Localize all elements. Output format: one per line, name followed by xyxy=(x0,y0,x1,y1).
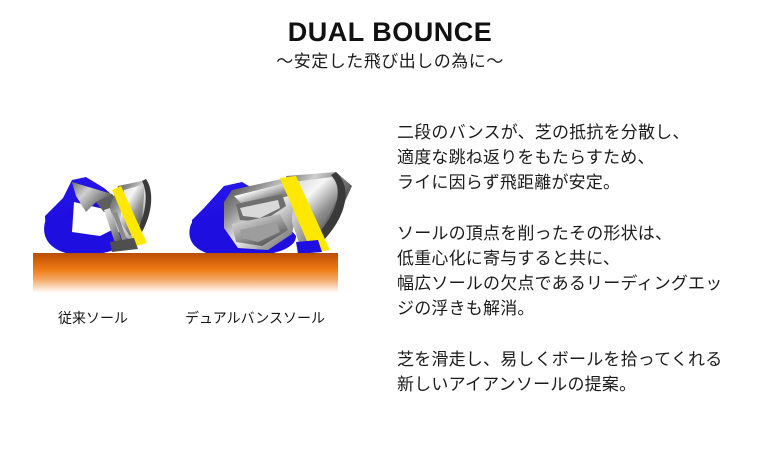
caption-dual-bounce-sole: デュアルバンスソール xyxy=(160,310,350,327)
dual-bounce-sole-illustration xyxy=(189,172,352,257)
paragraph-2-line-2: 低重心化に寄与すると共に、 xyxy=(397,246,775,271)
page-subtitle: 〜安定した飛び出しの為に〜 xyxy=(0,53,780,72)
club-sole-diagram-svg xyxy=(0,150,390,310)
paragraph-2: ソールの頂点を削ったその形状は、 低重心化に寄与すると共に、 幅広ソールの欠点で… xyxy=(397,221,775,321)
dualbounce-toe-tab xyxy=(296,240,322,254)
figure-captions: 従来ソール デュアルバンスソール xyxy=(0,310,390,334)
paragraph-1: 二段のバンスが、芝の抵抗を分散し、 適度な跳ね返りをもたらすため、 ライに因らず… xyxy=(397,120,775,195)
sole-comparison-figure: 従来ソール デュアルバンスソール xyxy=(0,150,390,350)
description-copy: 二段のバンスが、芝の抵抗を分散し、 適度な跳ね返りをもたらすため、 ライに因らず… xyxy=(397,120,775,397)
turf-ground-band xyxy=(33,253,338,293)
page-title: DUAL BOUNCE xyxy=(0,18,780,46)
paragraph-1-line-3: ライに因らず飛距離が安定。 xyxy=(397,170,775,195)
paragraph-3-line-1: 芝を滑走し、易しくボールを拾ってくれる xyxy=(397,347,775,372)
conventional-sole-illustration xyxy=(44,177,151,255)
paragraph-2-line-4: ジの浮きも解消。 xyxy=(397,296,775,321)
caption-conventional-sole: 従来ソール xyxy=(38,310,148,327)
paragraph-2-line-1: ソールの頂点を削ったその形状は、 xyxy=(397,221,775,246)
paragraph-2-line-3: 幅広ソールの欠点であるリーディングエッ xyxy=(397,271,775,296)
header: DUAL BOUNCE 〜安定した飛び出しの為に〜 xyxy=(0,18,780,72)
paragraph-1-line-1: 二段のバンスが、芝の抵抗を分散し、 xyxy=(397,120,775,145)
paragraph-3-line-2: 新しいアイアンソールの提案。 xyxy=(397,372,775,397)
paragraph-1-line-2: 適度な跳ね返りをもたらすため、 xyxy=(397,145,775,170)
paragraph-3: 芝を滑走し、易しくボールを拾ってくれる 新しいアイアンソールの提案。 xyxy=(397,347,775,397)
